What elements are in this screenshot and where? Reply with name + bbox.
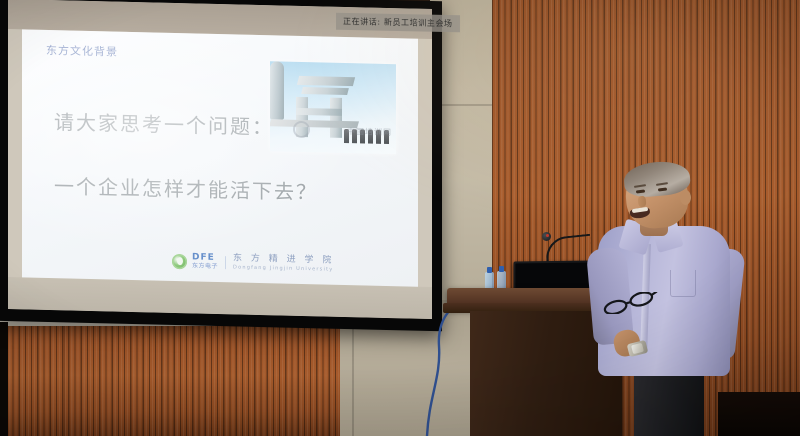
slide-body-line-1: 请大家思考一个问题： <box>54 106 274 140</box>
presentation-slide: 东方文化背景 请大家思考一个问题： 一个企业怎样才能活下去？ <box>22 29 418 286</box>
left-shadow-band <box>0 322 8 436</box>
brand-name-chinese: 东方电子 <box>192 263 218 270</box>
slide-body-line-2: 一个企业怎样才能活下去？ <box>54 170 318 205</box>
shirt-pocket <box>670 270 696 297</box>
projection-screen-surface: 东方文化背景 请大家思考一个问题： 一个企业怎样才能活下去？ <box>8 0 432 319</box>
presenter-ear <box>680 190 691 205</box>
slide-title: 东方文化背景 <box>46 42 118 60</box>
microphone-indicator-led <box>546 234 549 237</box>
eyeglasses-icon <box>602 292 660 314</box>
wood-panel-joint <box>63 326 65 436</box>
slide-photo-win-character: 中国培训网 <box>270 61 396 154</box>
leaf-circle-icon <box>172 253 187 268</box>
presenter <box>578 166 768 436</box>
photo-watermark: 中国培训网 <box>347 126 392 138</box>
logo-divider <box>225 256 226 269</box>
now-speaking-banner: 正在讲话: 新员工培训主会场 <box>336 13 460 33</box>
wood-slat-wall-left <box>0 326 340 436</box>
slide-footer-logo: DFE 东方电子 东 方 精 进 学 院 Dongfang Jingjin Un… <box>172 253 334 273</box>
nose <box>637 196 646 208</box>
school-name-english: Dongfang Jingjin University <box>233 265 334 272</box>
lecture-hall-photo: 东方文化背景 请大家思考一个问题： 一个企业怎样才能活下去？ <box>0 0 800 436</box>
projection-screen-frame: 东方文化背景 请大家思考一个问题： 一个企业怎样才能活下去？ <box>0 0 442 331</box>
watermark-ring-icon <box>293 121 310 138</box>
